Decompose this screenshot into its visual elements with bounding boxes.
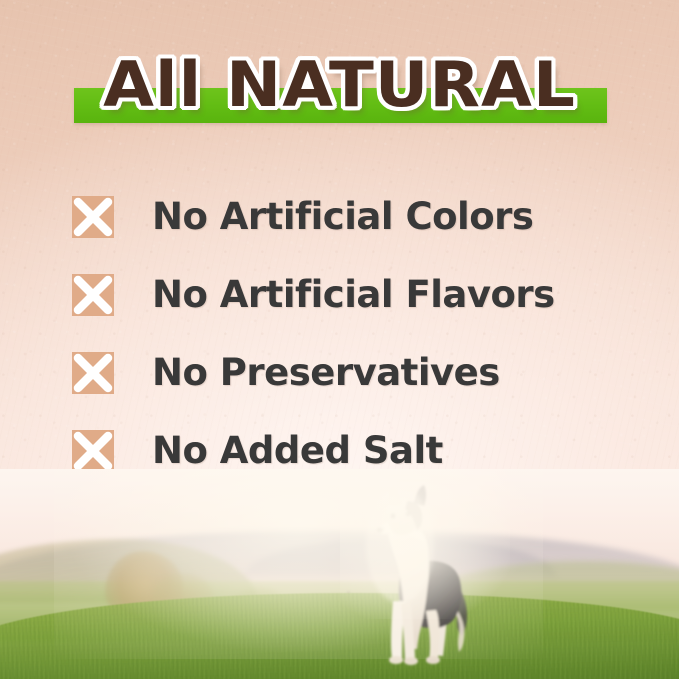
page-title: All NATURAL	[0, 48, 679, 122]
claim-label: No Added Salt	[152, 430, 443, 472]
x-mark-icon	[72, 352, 114, 394]
claim-label: No Preservatives	[152, 352, 500, 394]
claims-list: No Artificial Colors No Artificial Flavo…	[72, 178, 632, 490]
product-claims-poster: All NATURAL No Artificial Colors	[0, 0, 679, 679]
x-mark-icon	[72, 196, 114, 238]
headline-banner: All NATURAL	[0, 48, 679, 134]
dog-in-field-photo	[0, 469, 679, 679]
x-mark-icon	[72, 274, 114, 316]
list-item: No Artificial Colors	[72, 178, 632, 256]
claim-label: No Artificial Flavors	[152, 274, 555, 316]
foreground-grass-texture	[0, 593, 679, 679]
list-item: No Preservatives	[72, 334, 632, 412]
claim-label: No Artificial Colors	[152, 196, 533, 238]
list-item: No Artificial Flavors	[72, 256, 632, 334]
x-mark-icon	[72, 430, 114, 472]
dog-subject	[360, 483, 480, 673]
